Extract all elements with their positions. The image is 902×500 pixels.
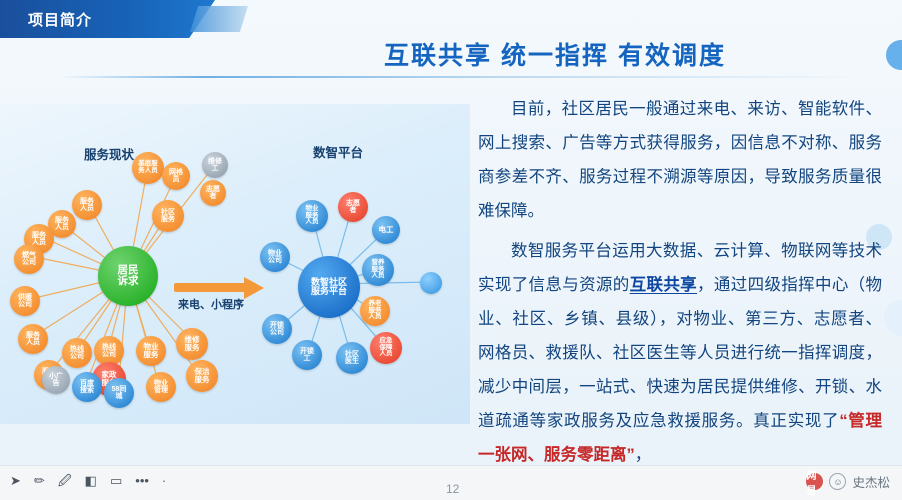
slide-root: 项目简介 互联共享 统一指挥 有效调度 <box>0 0 902 500</box>
diagram-node: 百度 搜索 <box>72 372 102 402</box>
shapes-icon[interactable]: ▭ <box>110 474 122 487</box>
diagram-node: 保洁 服务 <box>186 360 218 392</box>
diagram-node: 维修 服务 <box>176 328 208 360</box>
section-tab-accent <box>190 6 248 32</box>
diagram-caption-right: 数智平台 <box>313 142 363 161</box>
diagram-node: 营养 服务 人员 <box>362 254 394 286</box>
diagram-node: 热线 公司 <box>62 338 92 368</box>
pen-icon[interactable]: ✏ <box>34 474 45 487</box>
bottom-toolbar: ➤ ✏ 🖉 ◧ ▭ ••• · 12 网易 ☺ 史杰松 <box>0 465 902 500</box>
arrow-body <box>174 283 248 292</box>
diagram-node: 供暖 公司 <box>10 286 40 316</box>
highlighter-icon[interactable]: 🖉 <box>58 474 72 487</box>
diagram-node: 电工 <box>372 216 400 244</box>
diagram-hub-right: 数智社区 服务平台 <box>298 256 360 318</box>
body-text: 目前，社区居民一般通过来电、来访、智能软件、网上搜索、广告等方式获得服务，因信息… <box>478 92 882 500</box>
eraser-icon[interactable]: ◧ <box>85 474 97 487</box>
more-icon[interactable]: ••• <box>135 474 149 487</box>
diagram-caption-left: 服务现状 <box>84 144 134 163</box>
diagram-node: 开锁 工 <box>292 340 322 370</box>
diagram-node: 小广 告 <box>42 366 70 394</box>
diagram-links <box>0 104 470 424</box>
p2-highlight: 互联共享 <box>630 276 697 294</box>
decorative-circle-1 <box>886 40 902 70</box>
diagram-node: 维修 工 <box>202 152 228 178</box>
avatar: ☺ <box>829 473 846 490</box>
paragraph-1: 目前，社区居民一般通过来电、来访、智能软件、网上搜索、广告等方式获得服务，因信息… <box>478 92 882 228</box>
diagram-node: 服务 人员 <box>72 190 102 220</box>
diagram-node: 网格 员 <box>162 162 190 190</box>
tool-group: ➤ ✏ 🖉 ◧ ▭ ••• · <box>10 474 166 487</box>
decorative-circle-3 <box>884 300 902 336</box>
p2-part-b: ，通过四级指挥中心（物业、社区、乡镇、县级），对物业、第三方、志愿者、网格员、救… <box>478 276 882 430</box>
diagram-arrow: 来电、小程序 <box>174 274 270 308</box>
p2-part-c: ， <box>635 446 652 464</box>
section-tab-label: 项目简介 <box>28 9 92 30</box>
arrow-label: 来电、小程序 <box>178 296 244 312</box>
diagram-node: 物业 管理 <box>146 372 176 402</box>
brand-logo-icon: 网易 <box>806 473 823 490</box>
arrow-head <box>244 277 264 299</box>
laser-icon[interactable]: · <box>162 474 166 487</box>
diagram-node: 物业 服务 <box>136 336 166 366</box>
diagram-node: 志愿 者 <box>338 192 368 222</box>
watermark: 网易 ☺ 史杰松 <box>806 472 890 491</box>
diagram-node: 基层服 务人员 <box>132 152 164 184</box>
diagram-hub-left: 居民 诉求 <box>98 246 158 306</box>
diagram-node: 社区 医生 <box>336 342 368 374</box>
diagram-node: 社区 服务 <box>152 200 184 232</box>
diagram-node: 养老 服务 人员 <box>360 296 390 326</box>
page-title: 互联共享 统一指挥 有效调度 <box>255 36 855 72</box>
diagram-node: 服务 人员 <box>18 324 48 354</box>
diagram-node: 燃气 公司 <box>14 244 44 274</box>
diagram-node: 开锁 公司 <box>262 314 292 344</box>
section-tab: 项目简介 <box>0 0 255 42</box>
diagram-node: 物业 公司 <box>260 242 290 272</box>
paragraph-2: 数智服务平台运用大数据、云计算、物联网等技术实现了信息与资源的互联共享，通过四级… <box>478 234 882 472</box>
diagram-node-endpoint <box>420 272 442 294</box>
cursor-icon[interactable]: ➤ <box>10 474 21 487</box>
watermark-text: 史杰松 <box>852 472 890 491</box>
page-number: 12 <box>446 482 459 496</box>
title-divider <box>60 76 860 78</box>
diagram-node: 应急 保障 人员 <box>370 332 402 364</box>
diagram-panel: 服务现状 数智平台 居民 诉求 服务 人员 服务 人员 燃气 公司 供暖 公司 … <box>0 104 470 424</box>
diagram-node: 物业 服务 人员 <box>296 200 328 232</box>
diagram-node: 58同 城 <box>104 378 134 408</box>
diagram-node: 志愿 者 <box>200 180 226 206</box>
